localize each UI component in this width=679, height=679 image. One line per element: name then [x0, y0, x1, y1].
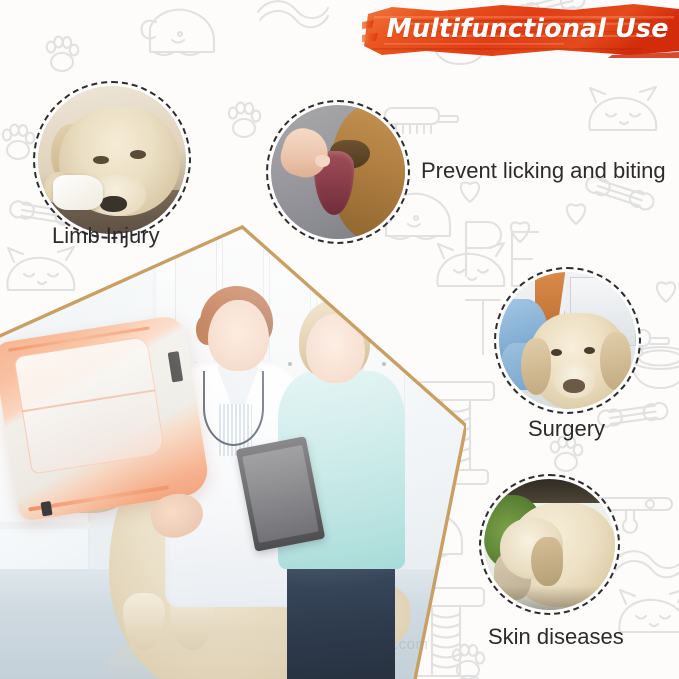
dog-with-bandaged-paw [38, 86, 186, 234]
feature-label-prevent-licking: Prevent licking and biting [421, 158, 666, 184]
infographic-poster: .com [0, 0, 679, 679]
main-product-photo [0, 210, 466, 679]
feature-label-skin-diseases: Skin diseases [488, 624, 624, 650]
feature-photo-prevent-licking [271, 105, 405, 239]
dog-in-surgery-room [499, 272, 636, 409]
dog-scratching-outdoors [484, 479, 615, 610]
title-banner: Multifunctional Use [362, 2, 679, 58]
feature-photo-limb-injury [38, 86, 186, 234]
feature-photo-surgery [499, 272, 636, 409]
feature-label-limb-injury: Limb Injury [52, 223, 160, 249]
site-watermark: .com [394, 636, 429, 653]
photo-highlight [0, 210, 466, 679]
dog-licking-finger [271, 105, 405, 239]
feature-label-surgery: Surgery [528, 416, 605, 442]
feature-photo-skin-diseases [484, 479, 615, 610]
banner-title-text: Multifunctional Use [362, 2, 679, 58]
